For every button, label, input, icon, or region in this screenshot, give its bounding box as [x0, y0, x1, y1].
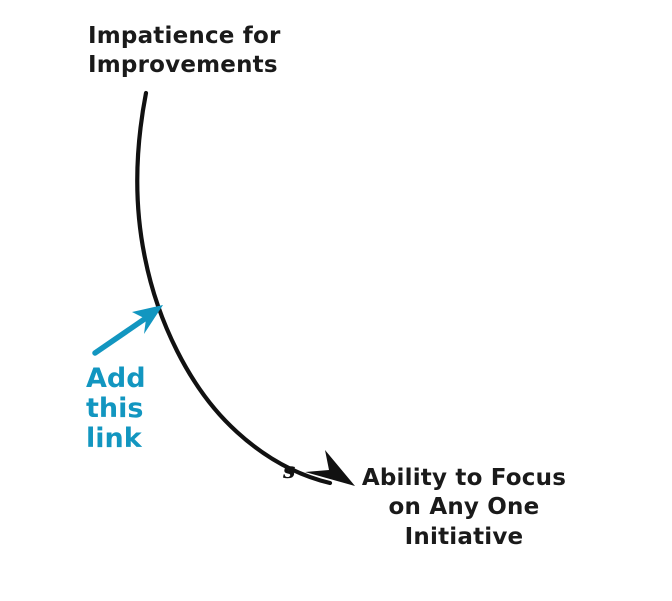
link-polarity-label-s: s	[283, 458, 295, 484]
annotation-arrowhead-icon	[132, 305, 163, 334]
diagram-vector-layer	[0, 0, 672, 601]
annotation-text-add-this-link: Add this link	[86, 364, 146, 455]
node-label-impatience-for-improvements: Impatience for Improvements	[88, 22, 281, 81]
causal-link-curve	[137, 93, 330, 483]
annotation-arrow[interactable]	[95, 305, 163, 353]
annotation-arrow-shaft	[95, 318, 146, 353]
causal-link-arrowhead-icon	[305, 450, 355, 486]
node-label-ability-to-focus: Ability to Focus on Any One Initiative	[358, 464, 570, 552]
diagram-canvas: Impatience for Improvements Ability to F…	[0, 0, 672, 601]
causal-link-impatience-to-ability[interactable]	[137, 93, 355, 486]
